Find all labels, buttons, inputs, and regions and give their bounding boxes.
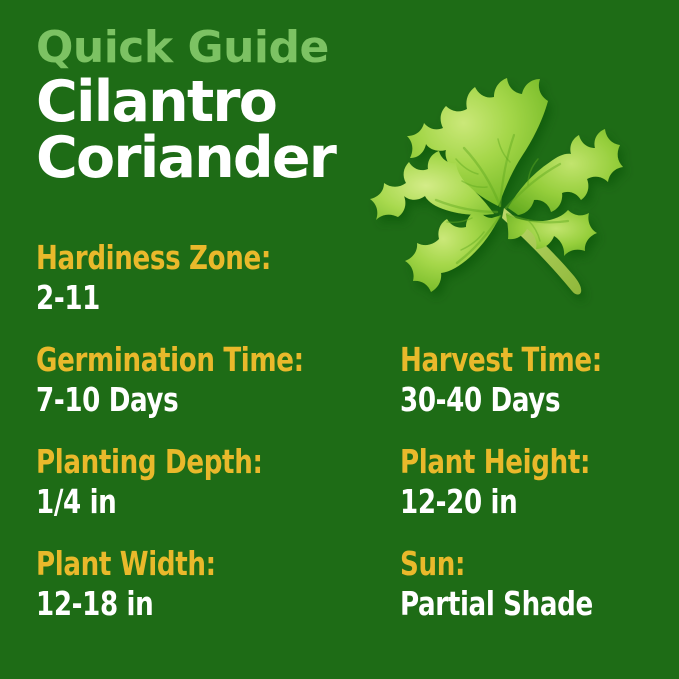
leaflet-upper-left: [407, 78, 548, 206]
spec-cell-germination-time: Germination Time:7-10 Days: [36, 340, 386, 420]
spec-value-sun: Partial Shade: [400, 584, 638, 624]
spec-grid: Hardiness Zone:2-11Germination Time:7-10…: [0, 238, 679, 646]
spec-label-harvest-time: Harvest Time:: [400, 340, 638, 380]
spec-label-planting-depth: Planting Depth:: [36, 442, 344, 482]
spec-cell-sun: Sun:Partial Shade: [400, 544, 670, 624]
spec-cell-harvest-time: Harvest Time:30-40 Days: [400, 340, 670, 420]
spec-value-plant-width: 12-18 in: [36, 584, 344, 624]
spec-value-plant-height: 12-20 in: [400, 482, 638, 522]
spec-row: Germination Time:7-10 DaysHarvest Time:3…: [0, 340, 679, 442]
header-block: Quick Guide Cilantro Coriander: [36, 24, 376, 188]
page-title: Cilantro: [36, 72, 376, 132]
spec-value-germination-time: 7-10 Days: [36, 380, 344, 420]
quick-guide-infographic: Quick Guide Cilantro Coriander: [0, 0, 679, 679]
leaflet-left: [370, 151, 494, 220]
spec-value-harvest-time: 30-40 Days: [400, 380, 638, 420]
spec-label-hardiness-zone: Hardiness Zone:: [36, 238, 344, 278]
spec-label-sun: Sun:: [400, 544, 638, 584]
spec-value-hardiness-zone: 2-11: [36, 278, 344, 318]
spec-cell-plant-height: Plant Height:12-20 in: [400, 442, 670, 522]
spec-label-germination-time: Germination Time:: [36, 340, 344, 380]
spec-label-plant-width: Plant Width:: [36, 544, 344, 584]
spec-row: Plant Width:12-18 inSun:Partial Shade: [0, 544, 679, 646]
page-subtitle: Coriander: [36, 128, 376, 188]
spec-label-plant-height: Plant Height:: [400, 442, 638, 482]
spec-cell-plant-width: Plant Width:12-18 in: [36, 544, 386, 624]
spec-row: Planting Depth:1/4 inPlant Height:12-20 …: [0, 442, 679, 544]
eyebrow-quick-guide: Quick Guide: [36, 24, 376, 72]
spec-value-planting-depth: 1/4 in: [36, 482, 344, 522]
leaflet-upper-right: [508, 129, 623, 215]
spec-cell-hardiness-zone: Hardiness Zone:2-11: [36, 238, 386, 318]
spec-row: Hardiness Zone:2-11: [0, 238, 679, 340]
spec-cell-planting-depth: Planting Depth:1/4 in: [36, 442, 386, 522]
